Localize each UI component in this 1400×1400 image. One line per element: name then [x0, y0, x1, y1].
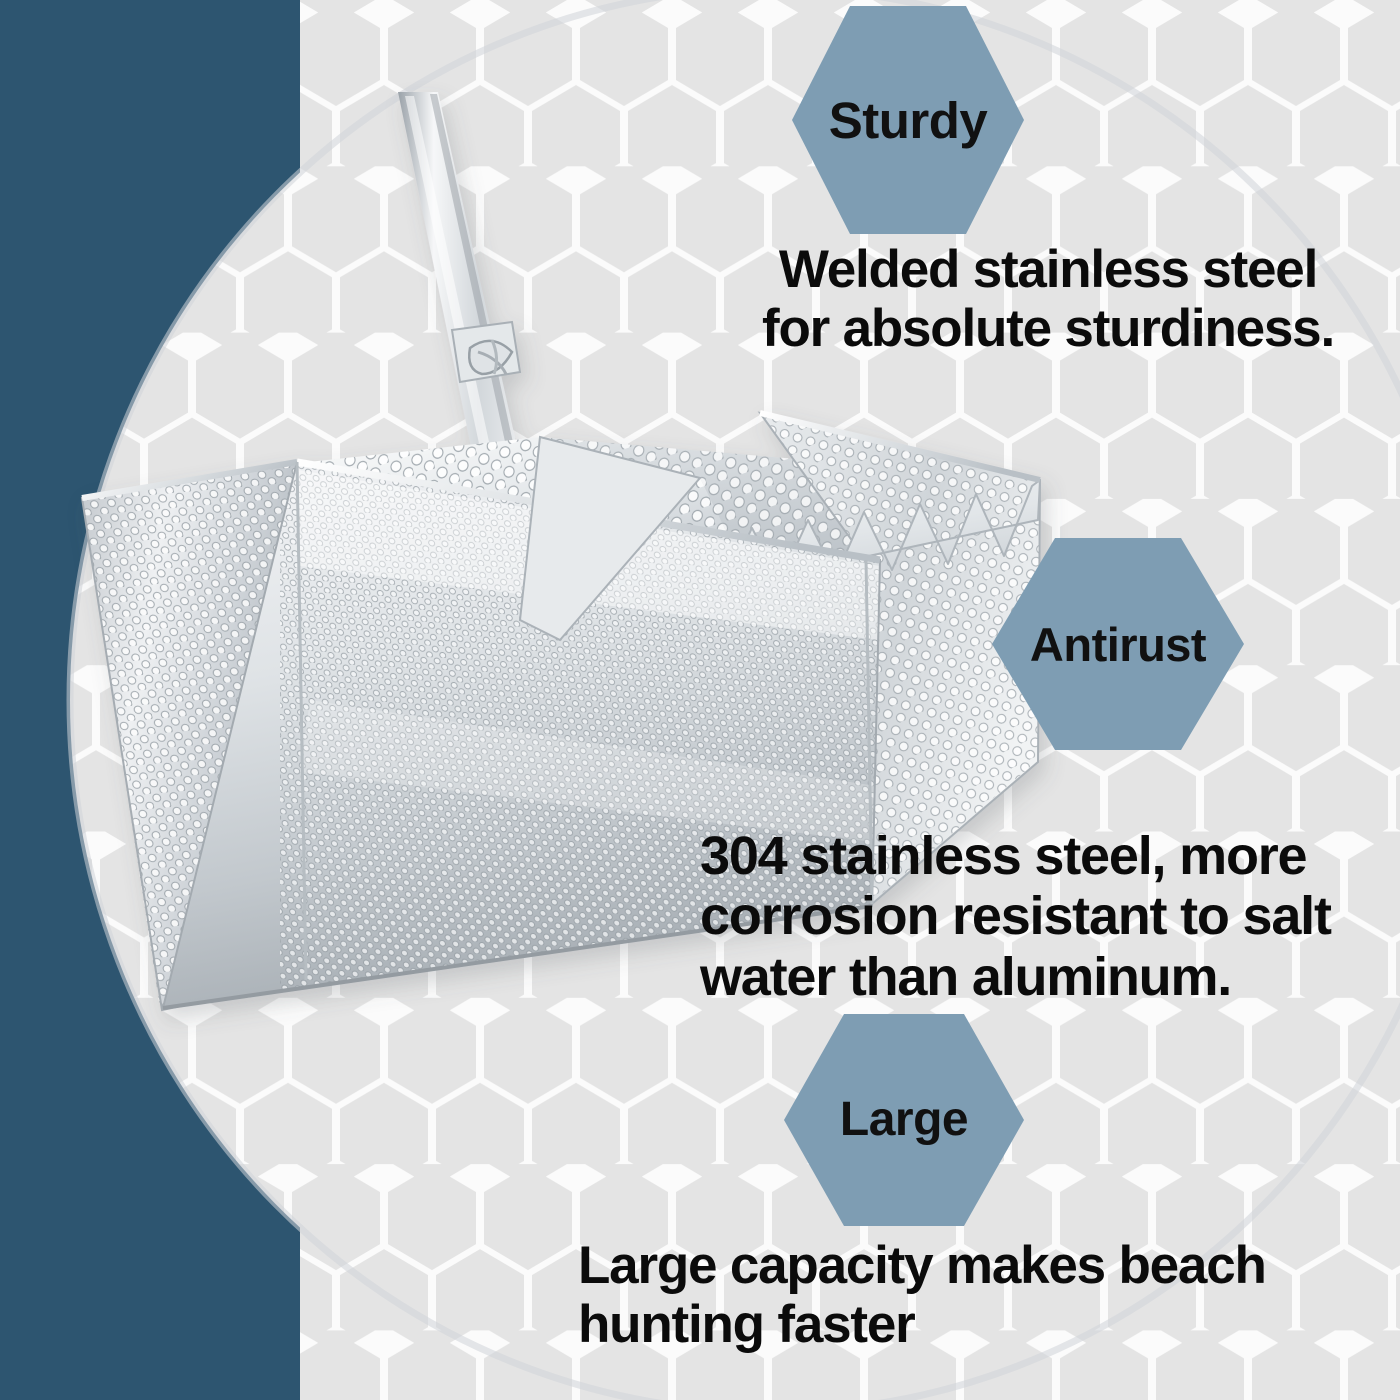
feature-description-large: Large capacity makes beach hunting faste…: [578, 1236, 1378, 1355]
feature-badge-large[interactable]: Large: [784, 1014, 1024, 1226]
feature-badge-sturdy[interactable]: Sturdy: [792, 6, 1024, 234]
feature-badge-antirust[interactable]: Antirust: [992, 538, 1244, 750]
feature-description-sturdy: Welded stainless steel for absolute stur…: [698, 240, 1398, 359]
feature-description-antirust: 304 stainless steel, more corrosion resi…: [700, 826, 1400, 1007]
feature-content-layer: Sturdy Welded stainless steel for absolu…: [0, 0, 1400, 1400]
feature-badge-label-sturdy: Sturdy: [829, 95, 988, 146]
infographic-canvas: Sturdy Welded stainless steel for absolu…: [0, 0, 1400, 1400]
feature-badge-label-large: Large: [840, 1096, 968, 1144]
feature-badge-label-antirust: Antirust: [1030, 621, 1206, 668]
